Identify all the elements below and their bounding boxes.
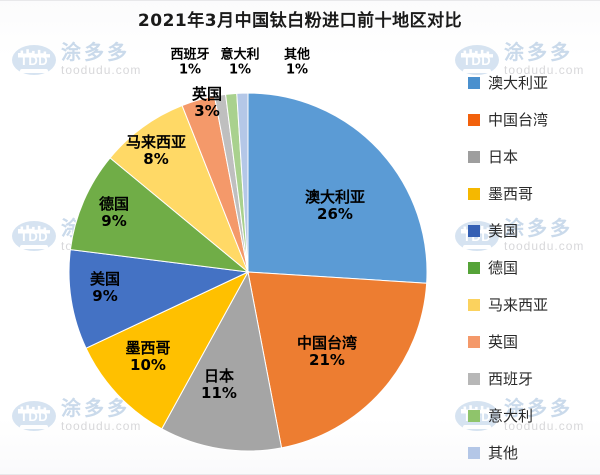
legend-item[interactable]: 德国 (468, 249, 596, 286)
pie-svg (0, 0, 462, 475)
legend-swatch-icon (468, 225, 480, 237)
legend-item[interactable]: 马来西亚 (468, 286, 596, 323)
chart-legend: 澳大利亚中国台湾日本墨西哥美国德国马来西亚英国西班牙意大利其他 (468, 64, 596, 471)
legend-label: 西班牙 (488, 371, 533, 387)
legend-swatch-icon (468, 336, 480, 348)
pie-slice[interactable] (248, 93, 427, 283)
pie-chart: 澳大利亚26%中国台湾21%日本11%墨西哥10%美国9%德国9%马来西亚8%英… (0, 0, 462, 475)
legend-item[interactable]: 日本 (468, 138, 596, 175)
legend-label: 中国台湾 (488, 112, 548, 128)
legend-label: 美国 (488, 223, 518, 239)
legend-swatch-icon (468, 447, 480, 459)
legend-item[interactable]: 西班牙 (468, 360, 596, 397)
legend-item[interactable]: 英国 (468, 323, 596, 360)
legend-label: 其他 (488, 445, 518, 461)
legend-item[interactable]: 澳大利亚 (468, 64, 596, 101)
legend-item[interactable]: 意大利 (468, 397, 596, 434)
legend-swatch-icon (468, 373, 480, 385)
legend-swatch-icon (468, 114, 480, 126)
legend-label: 德国 (488, 260, 518, 276)
legend-label: 马来西亚 (488, 297, 548, 313)
chart-canvas: TDD涂多多toodudu.comTDD涂多多toodudu.comTDD涂多多… (0, 0, 600, 475)
legend-swatch-icon (468, 188, 480, 200)
legend-label: 墨西哥 (488, 186, 533, 202)
legend-label: 澳大利亚 (488, 75, 548, 91)
page-title: 2021年3月中国钛白粉进口前十地区对比 (0, 10, 600, 32)
legend-item[interactable]: 墨西哥 (468, 175, 596, 212)
legend-item[interactable]: 中国台湾 (468, 101, 596, 138)
legend-item[interactable]: 美国 (468, 212, 596, 249)
legend-item[interactable]: 其他 (468, 434, 596, 471)
legend-swatch-icon (468, 262, 480, 274)
legend-swatch-icon (468, 77, 480, 89)
legend-label: 日本 (488, 149, 518, 165)
legend-swatch-icon (468, 410, 480, 422)
legend-label: 英国 (488, 334, 518, 350)
watermark-brand: 涂多多 (504, 42, 584, 62)
legend-label: 意大利 (488, 408, 533, 424)
legend-swatch-icon (468, 151, 480, 163)
legend-swatch-icon (468, 299, 480, 311)
